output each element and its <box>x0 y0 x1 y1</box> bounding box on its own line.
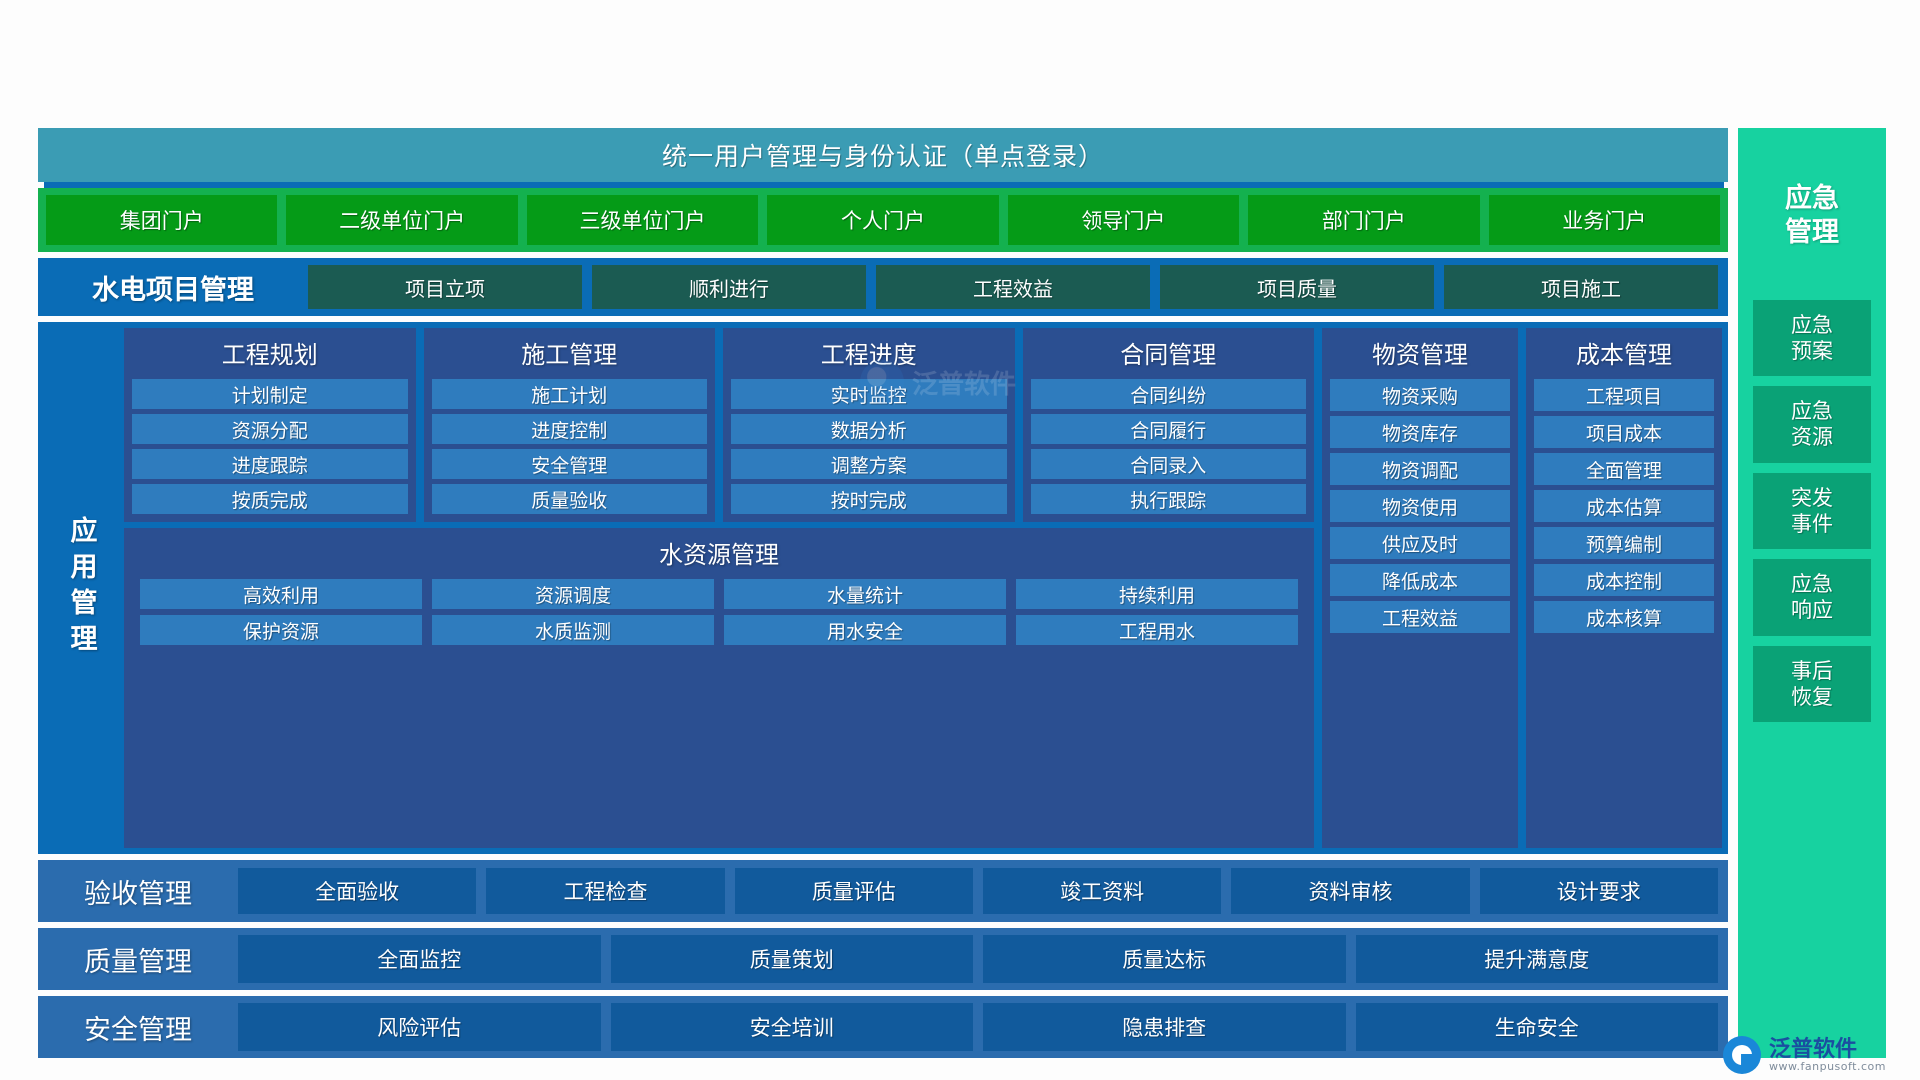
emergency-title-line1: 应急 <box>1785 182 1839 216</box>
chip-construction-plan[interactable]: 施工计划 <box>432 379 708 409</box>
group-title: 物资管理 <box>1330 334 1510 374</box>
chip-quality-acceptance[interactable]: 质量验收 <box>432 484 708 514</box>
application-quad-row: 工程规划 计划制定 资源分配 进度跟踪 按质完成 施工管理 施工计划 进度控制 … <box>124 328 1314 522</box>
emergency-sidebar-column: 应急 管理 应急 预案 应急 资源 突发 事件 应急 响应 <box>1738 128 1886 1058</box>
portal-item-personal[interactable]: 个人门户 <box>767 195 998 245</box>
chip-progress-tracking[interactable]: 进度跟踪 <box>132 449 408 479</box>
application-tall-groups: 物资管理 物资采购 物资库存 物资调配 物资使用 供应及时 降低成本 工程效益 … <box>1322 328 1722 848</box>
safety-item-life-safety[interactable]: 生命安全 <box>1356 1003 1719 1051</box>
unified-auth-bar: 统一用户管理与身份认证（单点登录） <box>38 128 1728 182</box>
chip-engineering-water-use[interactable]: 工程用水 <box>1016 615 1298 645</box>
chip-progress-control[interactable]: 进度控制 <box>432 414 708 444</box>
safety-management-row: 安全管理 风险评估 安全培训 隐患排查 生命安全 <box>38 996 1728 1058</box>
chip-budget-preparation[interactable]: 预算编制 <box>1534 527 1714 559</box>
application-management-side: 应用管理 <box>44 328 118 848</box>
portal-item-third-level[interactable]: 三级单位门户 <box>527 195 758 245</box>
emergency-item-line1: 突发 <box>1753 485 1871 511</box>
project-management-row: 水电项目管理 项目立项 顺利进行 工程效益 项目质量 项目施工 <box>38 258 1728 316</box>
safety-item-training[interactable]: 安全培训 <box>611 1003 974 1051</box>
main-column: 统一用户管理与身份认证（单点登录） 集团门户 二级单位门户 三级单位门户 个人门… <box>38 128 1728 1058</box>
brand-logo: 泛普软件 www.fanpusoft.com <box>1723 1036 1886 1074</box>
emergency-item-response[interactable]: 应急 响应 <box>1753 559 1871 636</box>
chip-execution-tracking[interactable]: 执行跟踪 <box>1031 484 1307 514</box>
chip-contract-dispute[interactable]: 合同纠纷 <box>1031 379 1307 409</box>
chip-water-safety[interactable]: 用水安全 <box>724 615 1006 645</box>
water-resource-grid: 高效利用 资源调度 水量统计 持续利用 保护资源 水质监测 用水安全 工程用水 <box>132 579 1306 645</box>
group-material-management: 物资管理 物资采购 物资库存 物资调配 物资使用 供应及时 降低成本 工程效益 <box>1322 328 1518 848</box>
emergency-item-line2: 恢复 <box>1753 684 1871 710</box>
chip-resource-scheduling[interactable]: 资源调度 <box>432 579 714 609</box>
group-engineering-planning: 工程规划 计划制定 资源分配 进度跟踪 按质完成 <box>124 328 416 522</box>
emergency-item-line1: 事后 <box>1753 658 1871 684</box>
group-construction-management: 施工管理 施工计划 进度控制 安全管理 质量验收 <box>424 328 716 522</box>
project-item-initiation[interactable]: 项目立项 <box>308 265 582 309</box>
chip-material-procurement[interactable]: 物资采购 <box>1330 379 1510 411</box>
emergency-item-plan[interactable]: 应急 预案 <box>1753 300 1871 377</box>
project-item-progress[interactable]: 顺利进行 <box>592 265 866 309</box>
group-water-resource-management: 水资源管理 高效利用 资源调度 水量统计 持续利用 保护资源 水质监测 用水安全… <box>124 528 1314 848</box>
chip-efficient-use[interactable]: 高效利用 <box>140 579 422 609</box>
chip-cost-estimation[interactable]: 成本估算 <box>1534 490 1714 522</box>
chip-safety-management[interactable]: 安全管理 <box>432 449 708 479</box>
chip-material-inventory[interactable]: 物资库存 <box>1330 416 1510 448</box>
acceptance-item-doc-review[interactable]: 资料审核 <box>1231 868 1469 914</box>
safety-item-hazard-investigation[interactable]: 隐患排查 <box>983 1003 1346 1051</box>
group-contract-management: 合同管理 合同纠纷 合同履行 合同录入 执行跟踪 <box>1023 328 1315 522</box>
acceptance-management-label: 验收管理 <box>48 872 228 911</box>
emergency-item-line2: 响应 <box>1753 597 1871 623</box>
chip-timely-supply[interactable]: 供应及时 <box>1330 527 1510 559</box>
quality-management-label: 质量管理 <box>48 940 228 979</box>
chip-quality-completion[interactable]: 按质完成 <box>132 484 408 514</box>
unified-auth-label: 统一用户管理与身份认证（单点登录） <box>662 137 1104 173</box>
brand-name: 泛普软件 <box>1769 1038 1886 1061</box>
group-title: 工程规划 <box>132 334 408 374</box>
quality-item-satisfaction[interactable]: 提升满意度 <box>1356 935 1719 983</box>
quality-item-full-monitoring[interactable]: 全面监控 <box>238 935 601 983</box>
chip-adjustment-plan[interactable]: 调整方案 <box>731 449 1007 479</box>
portal-row: 集团门户 二级单位门户 三级单位门户 个人门户 领导门户 部门门户 业务门户 <box>38 188 1728 252</box>
project-item-construction[interactable]: 项目施工 <box>1444 265 1718 309</box>
acceptance-item-inspection[interactable]: 工程检查 <box>486 868 724 914</box>
chip-resource-allocation[interactable]: 资源分配 <box>132 414 408 444</box>
group-title: 成本管理 <box>1534 334 1714 374</box>
emergency-item-recovery[interactable]: 事后 恢复 <box>1753 646 1871 723</box>
acceptance-item-completion-docs[interactable]: 竣工资料 <box>983 868 1221 914</box>
emergency-management-title: 应急 管理 <box>1785 134 1839 290</box>
group-title: 水资源管理 <box>132 534 1306 574</box>
emergency-title-line2: 管理 <box>1785 216 1839 250</box>
application-management-content: 工程规划 计划制定 资源分配 进度跟踪 按质完成 施工管理 施工计划 进度控制 … <box>124 328 1722 848</box>
project-item-benefit[interactable]: 工程效益 <box>876 265 1150 309</box>
safety-management-label: 安全管理 <box>48 1008 228 1047</box>
acceptance-item-full[interactable]: 全面验收 <box>238 868 476 914</box>
chip-plan-formulation[interactable]: 计划制定 <box>132 379 408 409</box>
portal-item-department[interactable]: 部门门户 <box>1248 195 1479 245</box>
safety-item-risk-assessment[interactable]: 风险评估 <box>238 1003 601 1051</box>
group-title: 工程进度 <box>731 334 1007 374</box>
acceptance-item-design-requirement[interactable]: 设计要求 <box>1480 868 1718 914</box>
chip-data-analysis[interactable]: 数据分析 <box>731 414 1007 444</box>
diagram-canvas: 水电工程企业管理系统的功能模块 统一用户管理与身份认证（单点登录） 集团门户 二… <box>0 0 1920 1080</box>
chip-on-time-completion[interactable]: 按时完成 <box>731 484 1007 514</box>
application-left-groups: 工程规划 计划制定 资源分配 进度跟踪 按质完成 施工管理 施工计划 进度控制 … <box>124 328 1314 848</box>
chip-sustainable-use[interactable]: 持续利用 <box>1016 579 1298 609</box>
group-title: 施工管理 <box>432 334 708 374</box>
emergency-item-line1: 应急 <box>1753 312 1871 338</box>
group-title: 合同管理 <box>1031 334 1307 374</box>
brand-url: www.fanpusoft.com <box>1769 1061 1886 1073</box>
chip-cost-control[interactable]: 成本控制 <box>1534 564 1714 596</box>
chip-water-statistics[interactable]: 水量统计 <box>724 579 1006 609</box>
quality-management-row: 质量管理 全面监控 质量策划 质量达标 提升满意度 <box>38 928 1728 990</box>
chip-engineering-project[interactable]: 工程项目 <box>1534 379 1714 411</box>
emergency-management-sidebar: 应急 管理 应急 预案 应急 资源 突发 事件 应急 响应 <box>1738 128 1886 1058</box>
application-management-block: 应用管理 工程规划 计划制定 资源分配 进度跟踪 按质完成 <box>38 322 1728 854</box>
chip-contract-performance[interactable]: 合同履行 <box>1031 414 1307 444</box>
emergency-item-line1: 应急 <box>1753 398 1871 424</box>
chip-engineering-benefit[interactable]: 工程效益 <box>1330 601 1510 633</box>
portal-item-leader[interactable]: 领导门户 <box>1008 195 1239 245</box>
chip-contract-entry[interactable]: 合同录入 <box>1031 449 1307 479</box>
chip-cost-accounting[interactable]: 成本核算 <box>1534 601 1714 633</box>
chip-resource-protection[interactable]: 保护资源 <box>140 615 422 645</box>
chip-project-cost[interactable]: 项目成本 <box>1534 416 1714 448</box>
group-cost-management: 成本管理 工程项目 项目成本 全面管理 成本估算 预算编制 成本控制 成本核算 <box>1526 328 1722 848</box>
chip-cost-reduction[interactable]: 降低成本 <box>1330 564 1510 596</box>
project-item-quality[interactable]: 项目质量 <box>1160 265 1434 309</box>
chip-water-quality-monitoring[interactable]: 水质监测 <box>432 615 714 645</box>
group-engineering-progress: 工程进度 实时监控 数据分析 调整方案 按时完成 <box>723 328 1015 522</box>
emergency-item-incident[interactable]: 突发 事件 <box>1753 473 1871 550</box>
quality-item-planning[interactable]: 质量策划 <box>611 935 974 983</box>
emergency-item-line1: 应急 <box>1753 571 1871 597</box>
acceptance-management-row: 验收管理 全面验收 工程检查 质量评估 竣工资料 资料审核 设计要求 <box>38 860 1728 922</box>
brand-logo-text: 泛普软件 www.fanpusoft.com <box>1769 1038 1886 1073</box>
emergency-item-resource[interactable]: 应急 资源 <box>1753 386 1871 463</box>
project-management-label: 水电项目管理 <box>48 268 298 307</box>
brand-logo-icon <box>1723 1036 1761 1074</box>
chip-material-usage[interactable]: 物资使用 <box>1330 490 1510 522</box>
portal-item-business[interactable]: 业务门户 <box>1489 195 1720 245</box>
quality-item-standard[interactable]: 质量达标 <box>983 935 1346 983</box>
portal-item-second-level[interactable]: 二级单位门户 <box>286 195 517 245</box>
emergency-item-line2: 资源 <box>1753 424 1871 450</box>
emergency-item-line2: 预案 <box>1753 338 1871 364</box>
application-management-label: 应用管理 <box>62 516 101 660</box>
emergency-item-line2: 事件 <box>1753 511 1871 537</box>
chip-realtime-monitoring[interactable]: 实时监控 <box>731 379 1007 409</box>
chip-comprehensive-management[interactable]: 全面管理 <box>1534 453 1714 485</box>
diagram-body: 统一用户管理与身份认证（单点登录） 集团门户 二级单位门户 三级单位门户 个人门… <box>38 128 1886 1058</box>
chip-material-allocation[interactable]: 物资调配 <box>1330 453 1510 485</box>
acceptance-item-quality-eval[interactable]: 质量评估 <box>735 868 973 914</box>
portal-item-group[interactable]: 集团门户 <box>46 195 277 245</box>
